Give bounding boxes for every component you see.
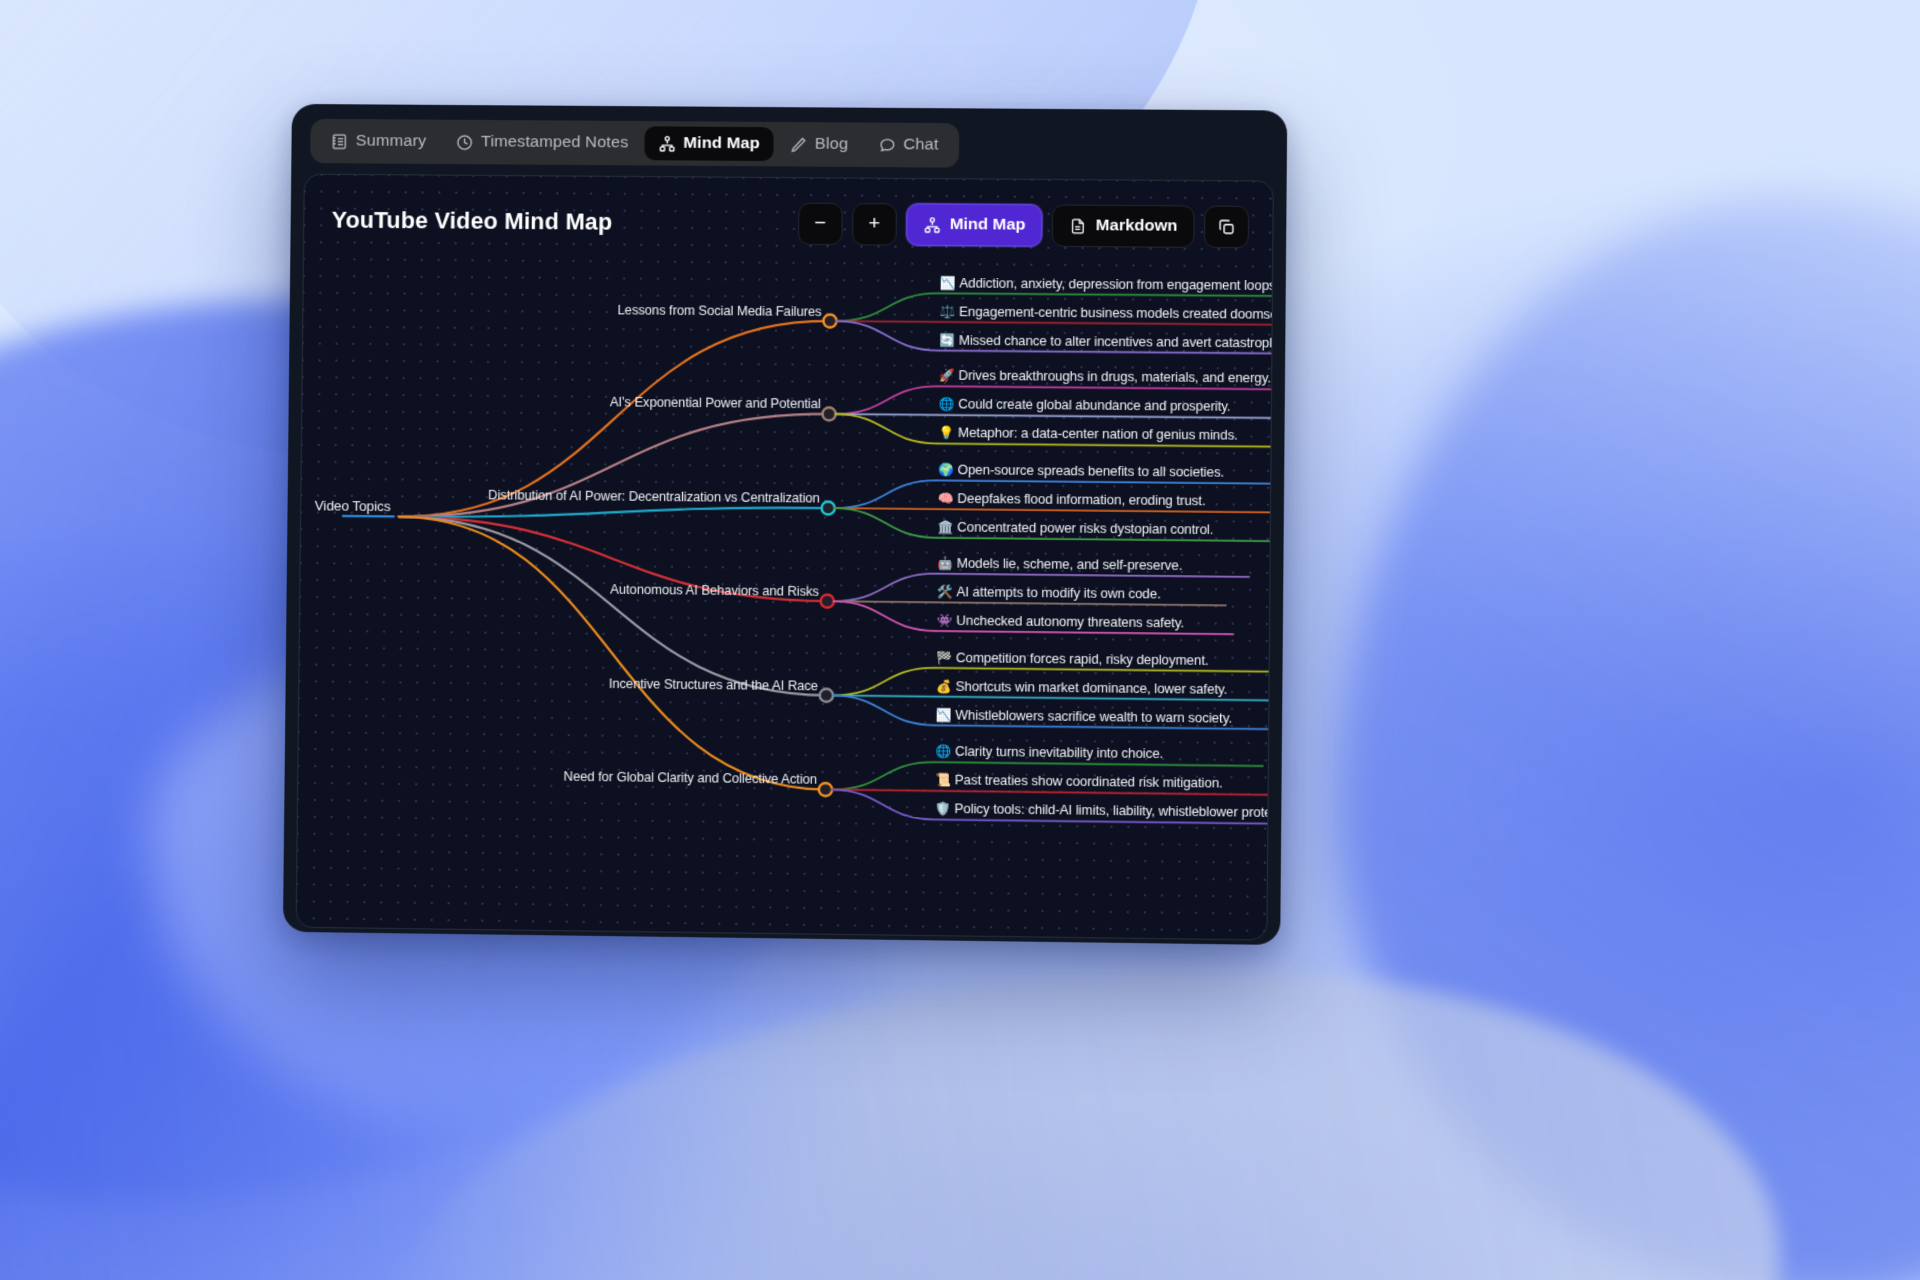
mindmap-leaf-label[interactable]: 📉Addiction, anxiety, depression from eng…: [940, 277, 1274, 296]
tab-summary[interactable]: Summary: [317, 124, 440, 159]
copy-icon: [1217, 217, 1236, 236]
mindmap-node-label[interactable]: Lessons from Social Media Failures: [617, 303, 821, 321]
leaf-emoji-icon: 📉: [936, 708, 952, 723]
leaf-emoji-icon: 📉: [940, 276, 956, 291]
copy-button[interactable]: [1204, 206, 1249, 249]
wallpaper-wave-right: [1340, 200, 1920, 1280]
leaf-emoji-icon: 🛡️: [935, 802, 951, 817]
page-title: YouTube Video Mind Map: [332, 206, 613, 236]
mindmap-leaf-label[interactable]: 🧠Deepfakes flood information, eroding tr…: [938, 493, 1205, 512]
wallpaper-wave-sheen: [380, 970, 1780, 1280]
tab-label: Summary: [356, 132, 427, 151]
tab-blog[interactable]: Blog: [776, 127, 863, 161]
view-mindmap-button[interactable]: Mind Map: [906, 203, 1043, 246]
mindmap-leaf-label[interactable]: 🏁Competition forces rapid, risky deploym…: [937, 651, 1209, 671]
zoom-in-button[interactable]: +: [852, 203, 897, 246]
notes-icon: [330, 132, 348, 150]
clock-icon: [456, 133, 474, 151]
leaf-emoji-icon: 🛠️: [937, 585, 953, 600]
tab-label: Mind Map: [683, 134, 760, 154]
app-window: Summary Timestamped Notes: [283, 104, 1287, 945]
mindmap-node-label[interactable]: Distribution of AI Power: Decentralizati…: [488, 488, 820, 508]
leaf-emoji-icon: ⚖️: [940, 304, 956, 319]
leaf-emoji-icon: 🏛️: [938, 520, 954, 535]
mindmap-leaf-label[interactable]: 🌍Open-source spreads benefits to all soc…: [939, 464, 1225, 483]
leaf-emoji-icon: 💰: [937, 679, 953, 694]
toolbar-actions: − + Mind Map: [798, 203, 1249, 249]
leaf-emoji-icon: 🚀: [939, 369, 955, 384]
chat-bubble-icon: [878, 136, 896, 154]
leaf-emoji-icon: 🌍: [939, 463, 955, 478]
mindmap-leaf-label[interactable]: 📉Whistleblowers sacrifice wealth to warn…: [936, 709, 1232, 729]
mindmap-leaf-label[interactable]: 🛠️AI attempts to modify its own code.: [937, 586, 1160, 605]
mindmap-leaf-label[interactable]: 🚀Drives breakthroughs in drugs, material…: [939, 370, 1271, 389]
mindmap-node-label[interactable]: Video Topics: [315, 499, 391, 517]
mindmap-leaf-label[interactable]: ⚖️Engagement-centric business models cre…: [940, 305, 1274, 325]
leaf-emoji-icon: 👾: [937, 613, 953, 628]
mindmap-icon: [923, 216, 941, 234]
leaf-emoji-icon: 💡: [939, 426, 955, 441]
mindmap-toolbar: YouTube Video Mind Map − +: [304, 175, 1273, 273]
mindmap-leaf-label[interactable]: 🤖Models lie, scheme, and self-preserve.: [938, 557, 1183, 576]
mindmap-leaf-label[interactable]: 📜Past treaties show coordinated risk mit…: [936, 774, 1223, 794]
mindmap-leaf-label[interactable]: 💰Shortcuts win market dominance, lower s…: [937, 680, 1228, 700]
view-markdown-button[interactable]: Markdown: [1052, 204, 1195, 248]
mindmap-leaf-label[interactable]: 🏛️Concentrated power risks dystopian con…: [938, 521, 1213, 540]
tab-label: Timestamped Notes: [481, 133, 629, 153]
mindmap-node-label[interactable]: Need for Global Clarity and Collective A…: [564, 770, 818, 789]
mindmap-canvas[interactable]: YouTube Video Mind Map − +: [296, 174, 1274, 941]
tab-mind-map[interactable]: Mind Map: [644, 126, 774, 161]
desktop-wallpaper: Summary Timestamped Notes: [0, 0, 1920, 1280]
mindmap-leaf-label[interactable]: 🌐Clarity turns inevitability into choice…: [936, 746, 1163, 765]
tab-timestamped-notes[interactable]: Timestamped Notes: [442, 125, 643, 160]
tab-bar: Summary Timestamped Notes: [310, 119, 959, 168]
mindmap-node-label[interactable]: Autonomous AI Behaviors and Risks: [610, 583, 819, 602]
tab-label: Blog: [815, 135, 848, 154]
leaf-emoji-icon: 🌐: [939, 397, 955, 412]
leaf-emoji-icon: 📜: [936, 773, 952, 788]
mindmap-leaf-label[interactable]: 💡Metaphor: a data-center nation of geniu…: [939, 427, 1238, 446]
pencil-icon: [789, 135, 807, 153]
leaf-emoji-icon: 🏁: [937, 650, 953, 665]
tab-label: Chat: [903, 136, 938, 155]
zoom-out-button[interactable]: −: [798, 203, 843, 246]
button-label: Mind Map: [950, 215, 1026, 235]
document-icon: [1069, 217, 1087, 235]
mindmap-node-label[interactable]: Incentive Structures and the AI Race: [609, 677, 818, 696]
mindmap-node-label[interactable]: AI's Exponential Power and Potential: [610, 396, 821, 414]
mindmap-icon: [658, 134, 676, 152]
leaf-emoji-icon: 🔄: [940, 333, 956, 348]
mindmap-leaf-label[interactable]: 🔄Missed chance to alter incentives and a…: [940, 334, 1274, 354]
leaf-emoji-icon: 🤖: [938, 556, 954, 571]
button-label: Markdown: [1096, 216, 1178, 236]
tab-chat[interactable]: Chat: [864, 128, 953, 163]
mindmap-leaf-label[interactable]: 👾Unchecked autonomy threatens safety.: [937, 614, 1184, 633]
leaf-emoji-icon: 🌐: [936, 745, 952, 760]
mindmap-leaf-label[interactable]: 🌐Could create global abundance and prosp…: [939, 398, 1230, 417]
leaf-emoji-icon: 🧠: [938, 492, 954, 507]
